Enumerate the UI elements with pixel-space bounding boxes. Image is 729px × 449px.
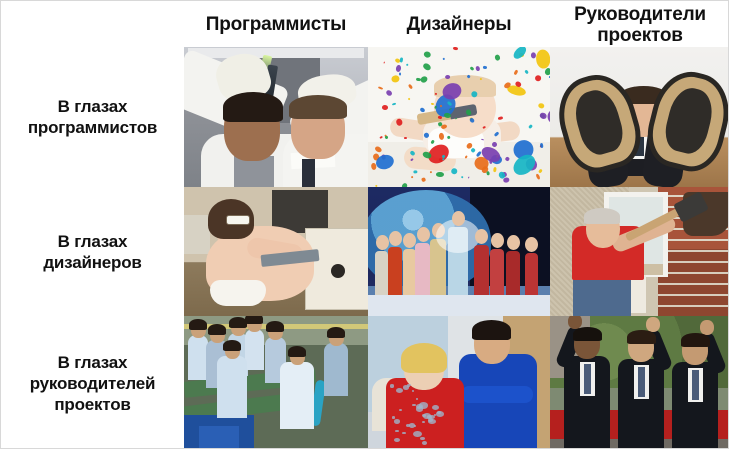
runway-model	[388, 247, 402, 295]
paint-splatter	[535, 75, 541, 81]
worker-hair	[327, 327, 345, 338]
paint-spot	[390, 384, 395, 387]
paint-splatter	[539, 143, 543, 149]
factory-worker	[245, 329, 264, 369]
worker-hair	[288, 346, 306, 357]
leader-hair	[573, 327, 602, 341]
leader-hand	[700, 320, 714, 335]
worker-hair	[208, 324, 226, 335]
leader-hair	[681, 333, 710, 347]
runway-model	[415, 243, 430, 295]
column-header-programmers: Программисты	[184, 1, 368, 47]
runway-model	[448, 227, 468, 295]
row-label-managers: В глазахруководителейпроектов	[1, 316, 184, 449]
row-label-programmers: В глазахпрограммистов	[1, 47, 184, 187]
factory-worker	[280, 362, 314, 429]
worker-hair	[245, 316, 263, 324]
meme-image: Программисты Дизайнеры Руководителипроек…	[0, 0, 729, 449]
photo-coverall-workers	[368, 316, 550, 449]
worker-hair	[223, 340, 241, 351]
cell-designers-by-managers	[368, 316, 550, 449]
paint-splatter	[445, 75, 450, 79]
factory-worker	[188, 335, 208, 381]
paint-spot	[416, 398, 418, 400]
paint-splatter	[530, 52, 535, 59]
photo-sledgehammer-wall	[550, 187, 729, 316]
cell-designers-by-programmers	[368, 47, 550, 187]
worker-hair	[266, 321, 284, 332]
paint-splatter	[399, 73, 401, 76]
row-label-designers: В глазахдизайнеров	[1, 187, 184, 316]
leader-hair	[627, 330, 656, 344]
runway-model	[403, 249, 416, 295]
photo-feet-on-desk	[550, 47, 729, 187]
paint-spot	[428, 418, 433, 422]
paint-splatter	[436, 172, 444, 177]
leader-tie	[692, 370, 699, 400]
runway-model	[506, 251, 520, 295]
leader-figure	[672, 362, 718, 449]
leader-figure	[564, 356, 610, 449]
paint-spot	[394, 419, 400, 423]
paint-spot	[422, 441, 427, 445]
paint-splatter	[406, 63, 409, 66]
cell-managers-by-designers	[550, 187, 729, 316]
runway-model	[375, 251, 388, 295]
cell-programmers-by-managers	[184, 316, 368, 449]
paint-splatter	[382, 105, 389, 110]
paint-splatter	[370, 162, 376, 170]
column-header-designers: Дизайнеры	[368, 1, 550, 47]
column-header-managers: Руководителипроектов	[550, 1, 729, 50]
photo-lab-scientists	[184, 47, 368, 187]
runway-model	[474, 245, 489, 295]
cell-programmers-by-designers	[184, 187, 368, 316]
runway-model	[490, 249, 504, 295]
leader-figure	[618, 359, 664, 449]
photo-factory-assembly-line	[184, 316, 368, 449]
cell-managers-by-managers	[550, 316, 729, 449]
paint-spot	[399, 409, 402, 411]
paint-splatter	[438, 133, 444, 140]
leader-tie	[638, 367, 645, 397]
paint-spot	[394, 438, 400, 442]
paint-spot	[392, 416, 395, 418]
leader-tie	[584, 364, 591, 394]
photo-fashion-show	[368, 187, 550, 316]
runway-model	[525, 253, 538, 295]
cell-programmers-by-programmers	[184, 47, 368, 187]
factory-worker	[324, 343, 348, 397]
photo-paint-baby	[368, 47, 550, 187]
paint-spot	[402, 432, 405, 434]
cell-managers-by-programmers	[550, 47, 729, 187]
photo-leaders-waving	[550, 316, 729, 449]
leader-hand	[646, 317, 660, 332]
cell-designers-by-designers	[368, 187, 550, 316]
photo-overweight-man-computer	[184, 187, 368, 316]
worker-hair	[189, 319, 207, 330]
factory-worker	[217, 356, 247, 418]
